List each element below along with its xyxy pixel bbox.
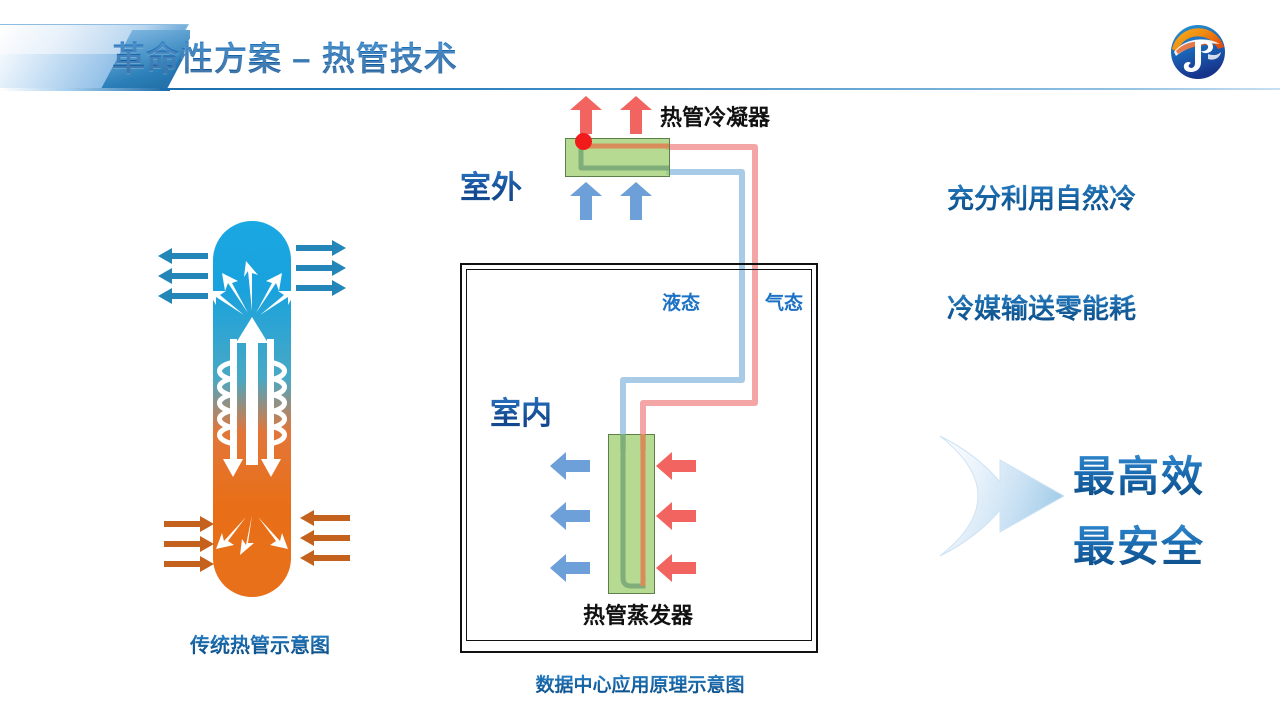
label-outdoor: 室外 [460, 162, 522, 207]
right-pointing-arrow [938, 430, 1068, 560]
company-logo [1168, 22, 1228, 82]
slide-header: 革命性方案 – 热管技术 [0, 0, 1280, 92]
hot-return-air-arrows [656, 452, 696, 582]
left-diagram-caption: 传统热管示意图 [120, 629, 400, 658]
header-rule [160, 88, 1280, 90]
cold-supply-air-arrows [550, 452, 590, 582]
hot-spot-indicator [575, 133, 592, 150]
cool-air-intake-arrows [560, 182, 690, 222]
label-condenser: 热管冷凝器 [660, 100, 770, 132]
slide-canvas: 革命性方案 – 热管技术 [0, 0, 1280, 720]
conclusion-line-2: 最安全 [1073, 513, 1205, 574]
benefit-bullet-1: 充分利用自然冷 [947, 177, 1136, 216]
center-diagram-caption: 数据中心应用原理示意图 [440, 670, 840, 697]
label-gas-phase: 气态 [765, 288, 803, 315]
page-title: 革命性方案 – 热管技术 [112, 32, 458, 80]
header-rule-left [0, 88, 170, 91]
traditional-heat-pipe-diagram [150, 215, 365, 605]
label-indoor: 室内 [490, 388, 552, 433]
label-liquid-phase: 液态 [662, 288, 700, 315]
label-evaporator: 热管蒸发器 [583, 598, 693, 630]
conclusion-line-1: 最高效 [1073, 443, 1205, 504]
evaporator-internal-u-tube [608, 434, 656, 596]
benefit-bullet-2: 冷媒输送零能耗 [947, 287, 1136, 326]
